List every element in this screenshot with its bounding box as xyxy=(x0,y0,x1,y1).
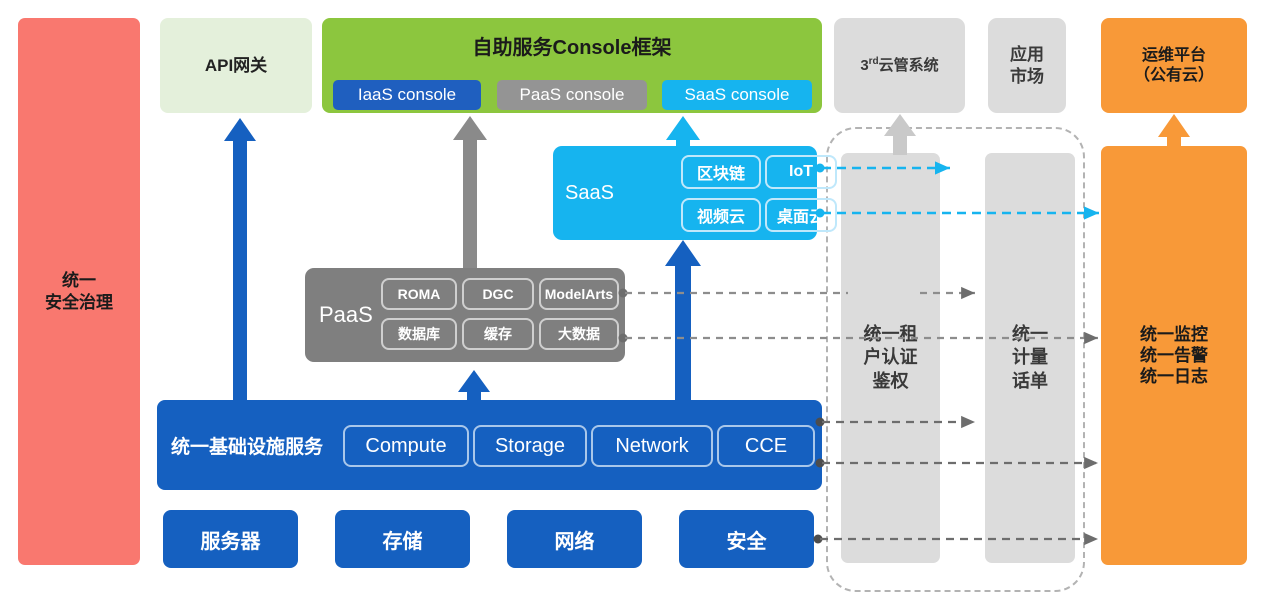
saas-chip-blockchain[interactable]: 区块链 xyxy=(681,155,761,189)
api-gateway-box: API网关 xyxy=(160,18,312,113)
paas-layer-label: PaaS xyxy=(319,268,373,362)
console-framework-title: 自助服务Console框架 xyxy=(322,31,822,60)
unified-infrastructure-box: 统一基础设施服务 Compute Storage Network CCE xyxy=(157,400,822,490)
ops-platform-line2: （公有云） xyxy=(1134,66,1214,86)
arrow-ops-body-to-ops-header xyxy=(1158,114,1190,146)
infra-chip-compute-label: Compute xyxy=(365,435,446,458)
paas-layer-box: PaaS ROMA DGC ModelArts 数据库 缓存 大数据 xyxy=(305,268,625,362)
paas-chip-dgc-label: DGC xyxy=(482,286,513,302)
hardware-network-label: 网络 xyxy=(555,525,595,554)
hardware-storage-label: 存储 xyxy=(383,525,423,554)
infra-chip-storage[interactable]: Storage xyxy=(473,425,587,467)
unified-metering-line3: 话单 xyxy=(1012,370,1048,393)
paas-chip-bigdata-label: 大数据 xyxy=(558,324,600,344)
arrow-infra-to-api-gateway xyxy=(224,118,256,400)
infra-chip-cce-label: CCE xyxy=(745,435,787,458)
infra-chip-network-label: Network xyxy=(615,435,688,458)
infra-chip-cce[interactable]: CCE xyxy=(717,425,815,467)
arrow-saas-to-saas-console xyxy=(666,116,700,146)
saas-console-chip[interactable]: SaaS console xyxy=(662,80,812,110)
unified-metering-line2: 计量 xyxy=(1012,346,1048,369)
ops-platform-body-box: 统一监控 统一告警 统一日志 xyxy=(1101,146,1247,565)
unified-infrastructure-label: 统一基础设施服务 xyxy=(171,400,323,490)
paas-chip-modelarts-label: ModelArts xyxy=(545,286,613,302)
hardware-server-label: 服务器 xyxy=(201,525,261,554)
saas-chip-desktop-cloud[interactable]: 桌面云 xyxy=(765,198,837,232)
ops-body-line3: 统一日志 xyxy=(1140,366,1208,387)
third-party-prefix: 3 xyxy=(860,57,868,74)
infra-chip-storage-label: Storage xyxy=(495,435,565,458)
third-party-suffix: 云管系统 xyxy=(879,57,939,74)
saas-chip-video-cloud-label: 视频云 xyxy=(697,203,745,227)
ops-body-line1: 统一监控 xyxy=(1140,324,1208,345)
paas-console-label: PaaS console xyxy=(520,85,625,105)
ops-body-line2: 统一告警 xyxy=(1140,345,1208,366)
app-market-box: 应用 市场 xyxy=(988,18,1066,113)
hardware-box-server[interactable]: 服务器 xyxy=(163,510,298,568)
app-market-line2: 市场 xyxy=(1010,66,1044,87)
api-gateway-label: API网关 xyxy=(205,55,267,76)
unified-auth-column: 统一租 户认证 鉴权 xyxy=(841,153,940,563)
arrow-infra-to-saas xyxy=(665,240,701,400)
saas-console-label: SaaS console xyxy=(685,85,790,105)
app-market-line1: 应用 xyxy=(1010,44,1044,65)
paas-chip-database-label: 数据库 xyxy=(398,324,440,344)
hardware-box-storage[interactable]: 存储 xyxy=(335,510,470,568)
security-governance-line2: 安全治理 xyxy=(45,292,113,313)
saas-chip-video-cloud[interactable]: 视频云 xyxy=(681,198,761,232)
ops-platform-line1: 运维平台 xyxy=(1134,46,1214,66)
iaas-console-label: IaaS console xyxy=(358,85,456,105)
hardware-security-label: 安全 xyxy=(727,525,767,554)
paas-chip-roma[interactable]: ROMA xyxy=(381,278,457,310)
iaas-console-chip[interactable]: IaaS console xyxy=(333,80,481,110)
unified-auth-line1: 统一租 xyxy=(864,323,918,346)
third-party-superscript: rd xyxy=(869,56,879,67)
saas-layer-box: SaaS 区块链 IoT 视频云 桌面云 xyxy=(553,146,817,240)
console-framework-box: 自助服务Console框架 IaaS console PaaS console … xyxy=(322,18,822,113)
saas-layer-label: SaaS xyxy=(565,146,614,240)
security-governance-line1: 统一 xyxy=(45,270,113,291)
infra-chip-compute[interactable]: Compute xyxy=(343,425,469,467)
paas-chip-dgc[interactable]: DGC xyxy=(462,278,534,310)
paas-chip-roma-label: ROMA xyxy=(398,286,441,302)
ops-platform-header-box: 运维平台 （公有云） xyxy=(1101,18,1247,113)
unified-auth-line3: 鉴权 xyxy=(864,370,918,393)
paas-console-chip[interactable]: PaaS console xyxy=(497,80,647,110)
paas-chip-cache[interactable]: 缓存 xyxy=(462,318,534,350)
saas-chip-iot[interactable]: IoT xyxy=(765,155,837,189)
saas-chip-blockchain-label: 区块链 xyxy=(697,160,745,184)
security-governance-panel: 统一 安全治理 xyxy=(18,18,140,565)
unified-auth-line2: 户认证 xyxy=(864,346,918,369)
paas-chip-cache-label: 缓存 xyxy=(484,324,512,344)
hardware-box-security[interactable]: 安全 xyxy=(679,510,814,568)
architecture-diagram: 统一 安全治理 API网关 自助服务Console框架 IaaS console… xyxy=(0,0,1265,605)
hardware-box-network[interactable]: 网络 xyxy=(507,510,642,568)
unified-metering-column: 统一 计量 话单 xyxy=(985,153,1075,563)
third-party-cloud-mgmt-box: 3rd云管系统 xyxy=(834,18,965,113)
arrow-paas-to-console xyxy=(453,116,487,268)
unified-metering-line1: 统一 xyxy=(1012,323,1048,346)
paas-chip-database[interactable]: 数据库 xyxy=(381,318,457,350)
paas-chip-modelarts[interactable]: ModelArts xyxy=(539,278,619,310)
saas-chip-iot-label: IoT xyxy=(789,163,813,181)
arrow-infra-to-paas xyxy=(458,370,490,400)
saas-chip-desktop-cloud-label: 桌面云 xyxy=(777,203,825,227)
infra-chip-network[interactable]: Network xyxy=(591,425,713,467)
paas-chip-bigdata[interactable]: 大数据 xyxy=(539,318,619,350)
